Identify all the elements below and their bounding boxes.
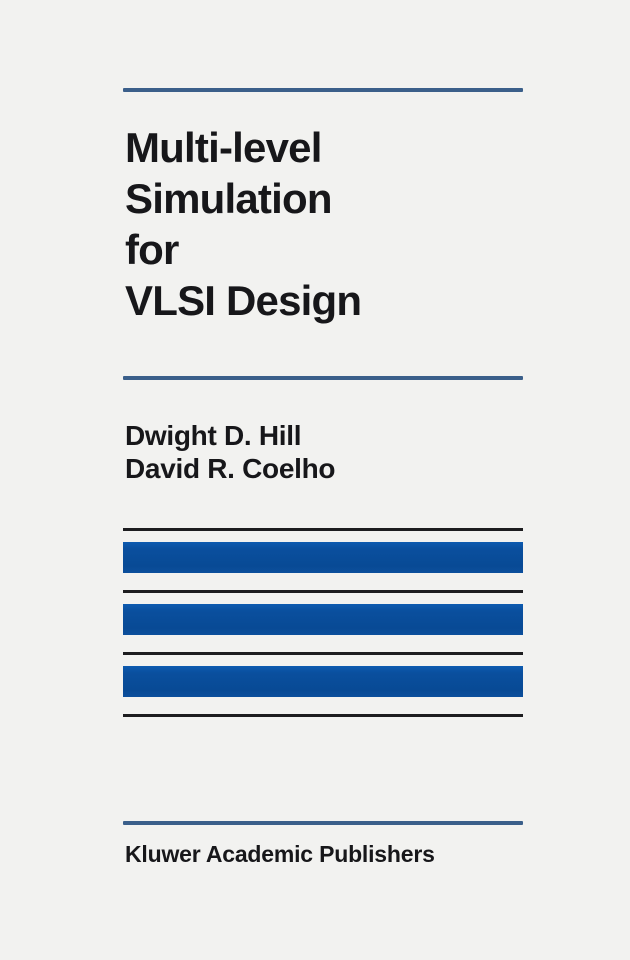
book-title: Multi-level Simulation for VLSI Design	[125, 122, 545, 326]
spacer	[123, 531, 523, 542]
book-authors: Dwight D. Hill David R. Coelho	[125, 419, 545, 485]
publisher-blue-rule	[123, 821, 523, 825]
title-line-2: Simulation	[125, 173, 545, 224]
blue-bar-1	[123, 542, 523, 573]
publisher-name: Kluwer Academic Publishers	[125, 840, 435, 868]
spacer	[123, 655, 523, 666]
spacer	[123, 635, 523, 652]
blue-bar-2	[123, 604, 523, 635]
title-line-1: Multi-level	[125, 122, 545, 173]
author-name-2: David R. Coelho	[125, 452, 545, 485]
title-line-3: for	[125, 224, 545, 275]
blue-bar-3	[123, 666, 523, 697]
thin-rule-4	[123, 714, 523, 717]
title-line-4: VLSI Design	[125, 275, 545, 326]
spacer	[123, 573, 523, 590]
top-blue-rule	[123, 88, 523, 92]
spacer	[123, 593, 523, 604]
decorative-bar-stack	[123, 528, 523, 717]
spacer	[123, 697, 523, 714]
author-name-1: Dwight D. Hill	[125, 419, 545, 452]
author-blue-rule	[123, 376, 523, 380]
book-cover: Multi-level Simulation for VLSI Design D…	[0, 0, 630, 960]
